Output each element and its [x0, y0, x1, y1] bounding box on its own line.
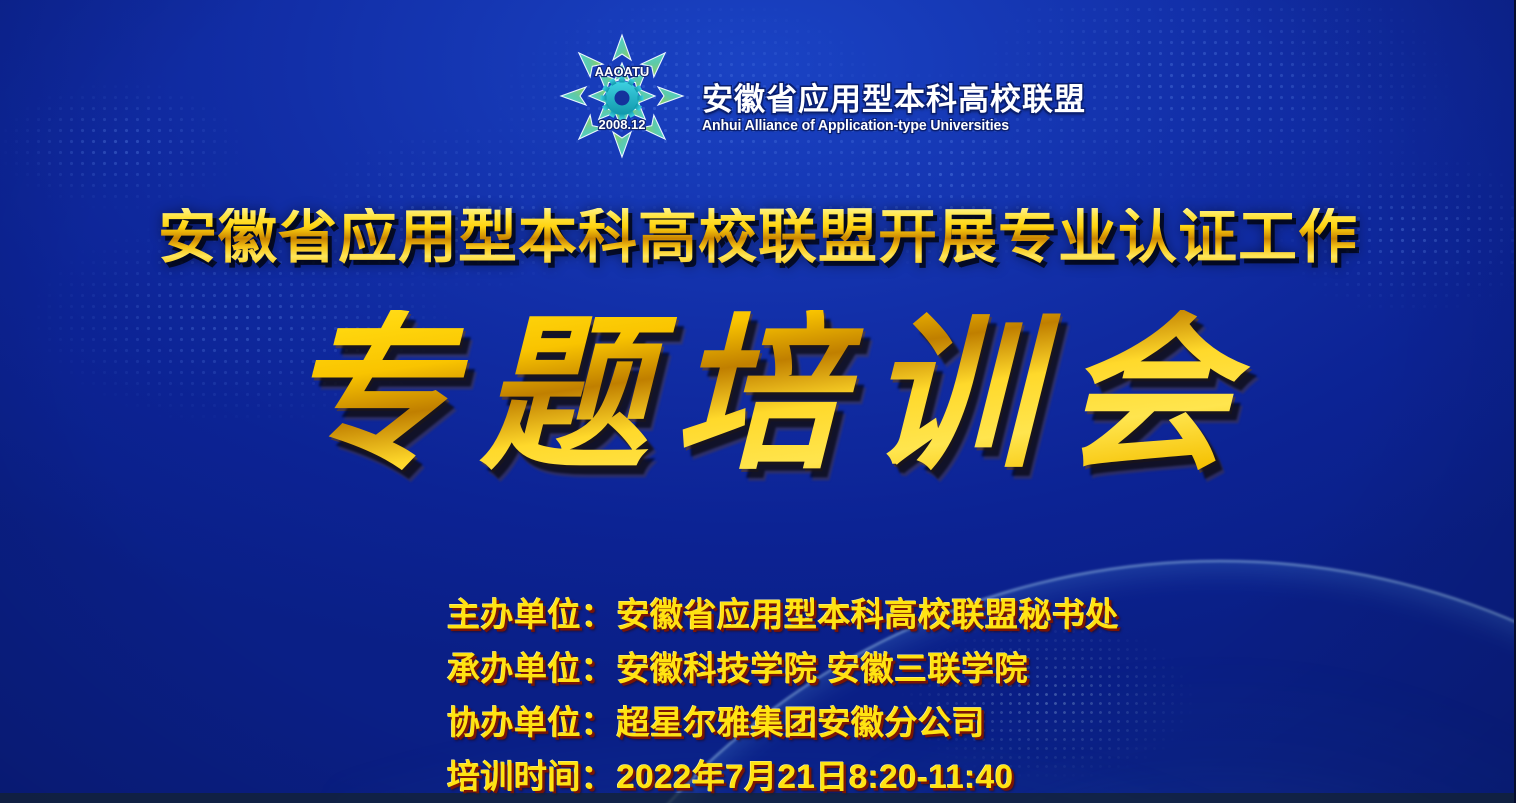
- logo-founded-text: 2008.12: [599, 117, 646, 132]
- alliance-logo-lockup: AAOATU 2008.12 安徽省应用型本科高校联盟 Anhui Allian…: [556, 30, 1086, 162]
- detail-value: 超星尔雅集团安徽分公司: [617, 704, 986, 741]
- detail-line-cohost: 协办单位：超星尔雅集团安徽分公司: [447, 696, 1119, 750]
- detail-line-organizer: 主办单位：安徽省应用型本科高校联盟秘书处: [447, 588, 1119, 642]
- alliance-name-en: Anhui Alliance of Application-type Unive…: [702, 118, 1074, 134]
- slide-headline: 安徽省应用型本科高校联盟开展专业认证工作: [0, 208, 1516, 267]
- aaoatu-alliance-emblem-icon: AAOATU 2008.12: [556, 30, 688, 162]
- event-details-block: 主办单位：安徽省应用型本科高校联盟秘书处 承办单位：安徽科技学院 安徽三联学院 …: [447, 588, 1119, 803]
- detail-line-host: 承办单位：安徽科技学院 安徽三联学院: [447, 642, 1119, 696]
- detail-label: 主办单位：: [447, 596, 615, 633]
- logo-acronym-text: AAOATU: [595, 64, 650, 79]
- detail-label: 培训时间：: [447, 758, 615, 795]
- detail-label: 协办单位：: [447, 704, 615, 741]
- alliance-name-cn: 安徽省应用型本科高校联盟: [702, 84, 1086, 117]
- detail-label: 承办单位：: [447, 650, 615, 687]
- detail-value: 安徽省应用型本科高校联盟秘书处: [617, 596, 1120, 633]
- detail-value: 2022年7月21日8:20-11:40: [617, 758, 1014, 795]
- slide-main-title: 专题培训会: [0, 310, 1516, 478]
- alliance-name-block: 安徽省应用型本科高校联盟 Anhui Alliance of Applicati…: [702, 58, 1086, 134]
- video-player-control-bar[interactable]: [0, 793, 1516, 803]
- presentation-slide: AAOATU 2008.12 安徽省应用型本科高校联盟 Anhui Allian…: [0, 0, 1516, 803]
- detail-value: 安徽科技学院 安徽三联学院: [617, 650, 1029, 687]
